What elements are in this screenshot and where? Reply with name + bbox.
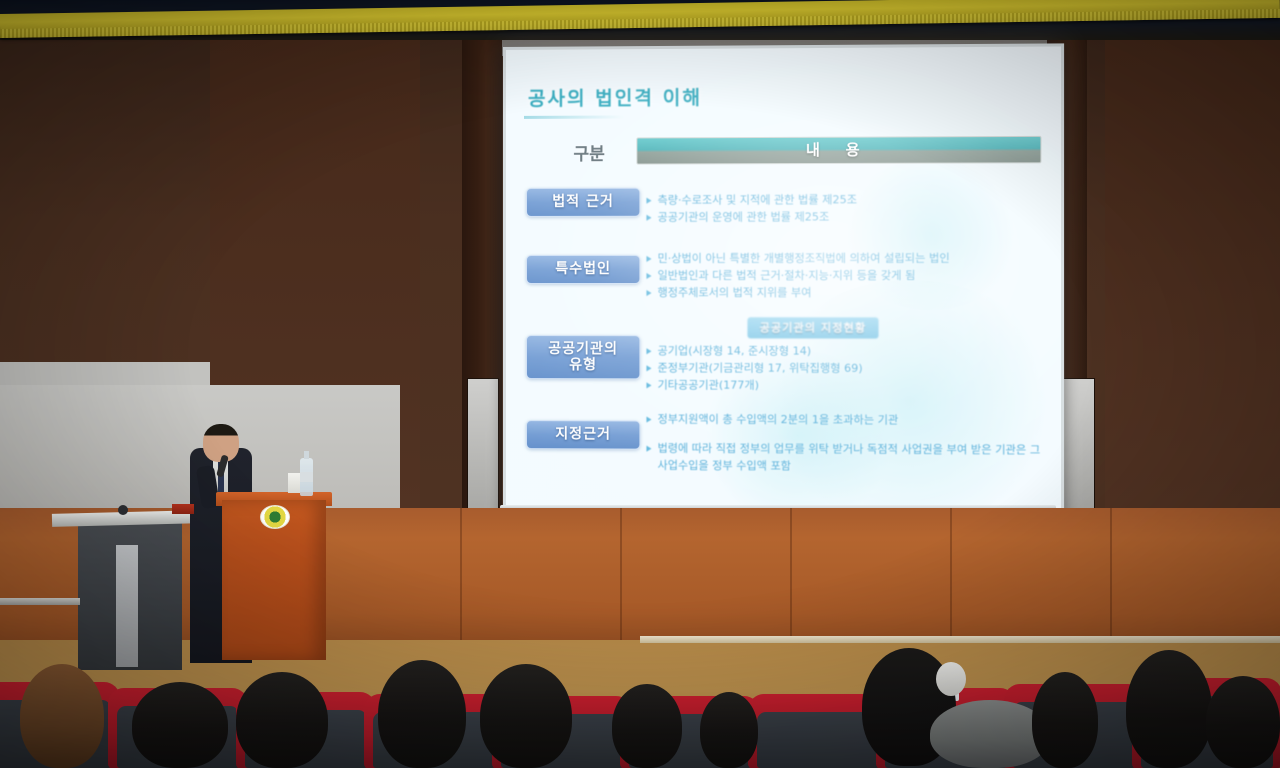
bullet: 공기업(시장형 14, 준시장형 14) — [646, 342, 1044, 360]
back-wall-right — [1105, 30, 1280, 510]
audience-head — [378, 660, 466, 768]
bullet: 법령에 따라 직접 정부의 업무를 위탁 받거나 독점적 사업권을 부여 받은 … — [646, 440, 1044, 476]
column-header-gubun: 구분 — [546, 139, 632, 164]
subhead-designation-status: 공공기관의 지정현황 — [747, 317, 878, 338]
audience-head — [480, 664, 572, 768]
title-underline — [524, 115, 624, 118]
row-body-legal-basis: 측량·수로조사 및 지적에 관한 법률 제25조 공공기관의 운영에 관한 법률… — [646, 191, 1044, 226]
audience-head — [1206, 676, 1280, 768]
bullet: 공공기관의 운영에 관한 법률 제25조 — [646, 208, 1044, 226]
projection-screen: 공사의 법인격 이해 구분 내 용 법적 근거 측량·수로조사 및 지적에 관한… — [503, 43, 1064, 518]
lecture-hall-photo: 공사의 법인격 이해 구분 내 용 법적 근거 측량·수로조사 및 지적에 관한… — [0, 0, 1280, 768]
row-body-special-corporation: 민·상법이 아닌 특별한 개별행정조직법에 의하여 설립되는 법인 일반법인과 … — [646, 250, 1044, 302]
pillar-panel-left — [467, 378, 499, 510]
red-book-on-lectern — [172, 504, 194, 514]
row-label-legal-basis: 법적 근거 — [526, 188, 640, 217]
row-label-public-institution-types: 공공기관의 유형 — [526, 335, 640, 379]
audience-head — [700, 692, 758, 768]
lectern-front-strip — [116, 545, 138, 667]
row-label-special-corporation: 특수법인 — [526, 255, 640, 284]
audience-head — [132, 682, 228, 768]
slide-row: 지정근거 정부지원액이 총 수입액의 2분의 1을 초과하는 기관 법령에 따라… — [506, 420, 1061, 422]
column-header-naeyong: 내 용 — [636, 136, 1041, 165]
wall-trim-strip — [640, 636, 1280, 643]
bullet: 기타공공기관(177개) — [646, 376, 1044, 394]
lectern-microphone-base — [118, 505, 128, 515]
bullet: 일반법인과 다른 법적 근거·절차·지능·지위 등을 갖게 됨 — [646, 267, 1044, 284]
paper-cup — [288, 473, 300, 493]
bullet: 측량·수로조사 및 지적에 관한 법률 제25조 — [646, 191, 1044, 209]
audience-head — [612, 684, 682, 768]
bullet: 정부지원액이 총 수입액의 2분의 1을 초과하는 기관 — [646, 411, 1044, 430]
row-body-public-institution-types: 공공기관의 지정현황 공기업(시장형 14, 준시장형 14) 준정부기관(기금… — [646, 317, 1044, 395]
slide-row: 공공기관의 유형 공공기관의 지정현황 공기업(시장형 14, 준시장형 14)… — [506, 335, 1061, 336]
audience-head — [1126, 650, 1212, 768]
slide-row: 법적 근거 측량·수로조사 및 지적에 관한 법률 제25조 공공기관의 운영에… — [506, 187, 1061, 188]
slide: 공사의 법인격 이해 구분 내 용 법적 근거 측량·수로조사 및 지적에 관한… — [506, 46, 1061, 515]
slide-title: 공사의 법인격 이해 — [528, 83, 702, 111]
pillar-panel-right — [1063, 378, 1095, 510]
row-label-designation-basis: 지정근거 — [526, 420, 640, 450]
row-body-designation-basis: 정부지원액이 총 수입액의 2분의 1을 초과하는 기관 법령에 따라 직접 정… — [646, 411, 1044, 476]
audience-head — [1032, 672, 1098, 768]
audience-head — [20, 664, 104, 768]
water-bottle — [300, 458, 313, 496]
wall-rail — [0, 598, 80, 605]
bullet: 준정부기관(기금관리형 17, 위탁집행형 69) — [646, 359, 1044, 377]
podium-emblem-icon — [260, 505, 290, 529]
bullet: 민·상법이 아닌 특별한 개별행정조직법에 의하여 설립되는 법인 — [646, 250, 1044, 267]
audience-head — [236, 672, 328, 768]
bullet: 행정주체로서의 법적 지위를 부여 — [646, 284, 1044, 301]
